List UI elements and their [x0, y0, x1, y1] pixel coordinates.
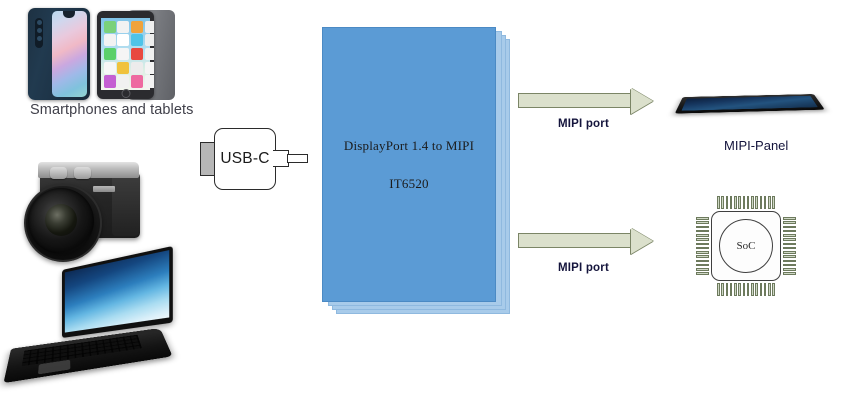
tablet-app-icon-6	[117, 34, 129, 46]
tablet-app-icon-8	[145, 34, 154, 46]
it6520-chip-block: DisplayPort 1.4 to MIPI IT6520	[322, 27, 512, 308]
soc-pin	[696, 260, 709, 263]
phone-notch	[63, 11, 75, 18]
tablet-app-icon-18	[117, 75, 129, 87]
tablet-app-icon-7	[131, 34, 143, 46]
soc-pin	[738, 283, 741, 296]
soc-body: SoC	[711, 211, 781, 281]
tablet-app-icon-20	[145, 75, 154, 87]
tablet-app-icon-5	[104, 34, 116, 46]
soc-pin	[768, 283, 771, 296]
soc-pin	[783, 234, 796, 237]
arrow-head	[631, 228, 653, 254]
soc-pins-right	[783, 217, 796, 275]
soc-pin	[764, 196, 767, 209]
arrow-shaft	[518, 233, 632, 248]
soc-pin	[696, 238, 709, 241]
soc-pin	[760, 283, 763, 296]
soc-pin	[696, 221, 709, 224]
usb-c-body: USB-C	[214, 128, 276, 190]
tablet-app-icon-12	[145, 48, 154, 60]
soc-pin	[730, 196, 733, 209]
soc-label: SoC	[737, 240, 756, 252]
soc-pin	[783, 251, 796, 254]
soc-pin	[764, 283, 767, 296]
soc-pin	[696, 217, 709, 220]
soc-pin	[783, 221, 796, 224]
soc-pin	[696, 268, 709, 271]
soc-pin	[783, 238, 796, 241]
soc-pin	[755, 196, 758, 209]
mipi-port-arrow-top	[518, 88, 668, 114]
soc-pin	[738, 196, 741, 209]
soc-pin	[783, 243, 796, 246]
soc-pin	[696, 226, 709, 229]
soc-pin	[717, 283, 720, 296]
tablet-app-icon-4	[145, 21, 154, 33]
soc-pin	[696, 243, 709, 246]
soc-pins-left	[696, 217, 709, 275]
soc-pin	[696, 234, 709, 237]
tablet-app-icon-14	[117, 62, 129, 74]
chip-face: DisplayPort 1.4 to MIPI IT6520	[322, 27, 496, 302]
arrow-head	[631, 88, 653, 114]
soc-pin	[743, 283, 746, 296]
smartphones-and-tablets-label: Smartphones and tablets	[30, 102, 194, 118]
mipi-port-label-top: MIPI port	[558, 118, 609, 130]
soc-pin	[730, 283, 733, 296]
mipi-panel-label: MIPI-Panel	[724, 138, 788, 153]
soc-pin	[783, 247, 796, 250]
soc-pin	[751, 283, 754, 296]
tablet-app-icon-3	[131, 21, 143, 33]
tablet-app-grid	[101, 18, 150, 90]
soc-pin	[783, 226, 796, 229]
tablet-app-icon-2	[117, 21, 129, 33]
soc-pin	[783, 230, 796, 233]
soc-pin	[696, 247, 709, 250]
soc-pin	[783, 260, 796, 263]
mipi-port-arrow-bottom	[518, 228, 668, 254]
soc-pin	[783, 217, 796, 220]
soc-pin	[696, 230, 709, 233]
soc-pins-top	[717, 196, 775, 209]
soc-pin	[783, 264, 796, 267]
soc-pin	[696, 251, 709, 254]
soc-pin	[772, 196, 775, 209]
soc-pin	[747, 283, 750, 296]
smartphone-icon	[28, 8, 90, 100]
tablet-app-icon-1	[104, 21, 116, 33]
phone-camera-module	[35, 18, 43, 48]
arrow-shaft	[518, 93, 632, 108]
tablet-app-icon-11	[131, 48, 143, 60]
soc-pin	[726, 283, 729, 296]
diagram-canvas: Smartphones and tablets USB-C DisplayPor…	[0, 0, 865, 415]
usb-c-connector-icon: USB-C	[200, 128, 310, 190]
soc-pin	[755, 283, 758, 296]
tablet-app-icon-9	[104, 48, 116, 60]
soc-pin	[783, 272, 796, 275]
soc-pin	[734, 283, 737, 296]
soc-pins-bottom	[717, 283, 775, 296]
soc-pin	[760, 196, 763, 209]
soc-pin	[768, 196, 771, 209]
chip-title-line1: DisplayPort 1.4 to MIPI	[344, 138, 474, 154]
soc-die-circle: SoC	[719, 219, 773, 273]
soc-pin	[751, 196, 754, 209]
tablet-home-button	[121, 89, 130, 98]
soc-pin	[721, 196, 724, 209]
mipi-port-label-bottom: MIPI port	[558, 262, 609, 274]
tablet-app-icon-17	[104, 75, 116, 87]
tablet-app-icon-16	[145, 62, 154, 74]
soc-pin	[747, 196, 750, 209]
soc-pin	[696, 264, 709, 267]
soc-pin	[696, 255, 709, 258]
laptop-icon	[20, 268, 170, 386]
soc-pin	[783, 268, 796, 271]
soc-pin	[743, 196, 746, 209]
soc-pin	[772, 283, 775, 296]
soc-pin	[783, 255, 796, 258]
soc-pin	[734, 196, 737, 209]
camera-icon	[10, 148, 145, 260]
flat-panel-display-icon	[676, 82, 826, 132]
usb-c-label: USB-C	[220, 150, 269, 168]
soc-pin	[717, 196, 720, 209]
chip-part-number: IT6520	[389, 176, 428, 192]
tablet-icon	[97, 10, 175, 100]
soc-pin	[696, 272, 709, 275]
soc-pin	[726, 196, 729, 209]
tablet-app-icon-10	[117, 48, 129, 60]
tablet-app-icon-19	[131, 75, 143, 87]
usb-c-plug-tip	[287, 154, 308, 163]
soc-chip-icon: SoC	[694, 194, 798, 298]
tablet-app-icon-15	[131, 62, 143, 74]
soc-pin	[721, 283, 724, 296]
tablet-app-icon-13	[104, 62, 116, 74]
